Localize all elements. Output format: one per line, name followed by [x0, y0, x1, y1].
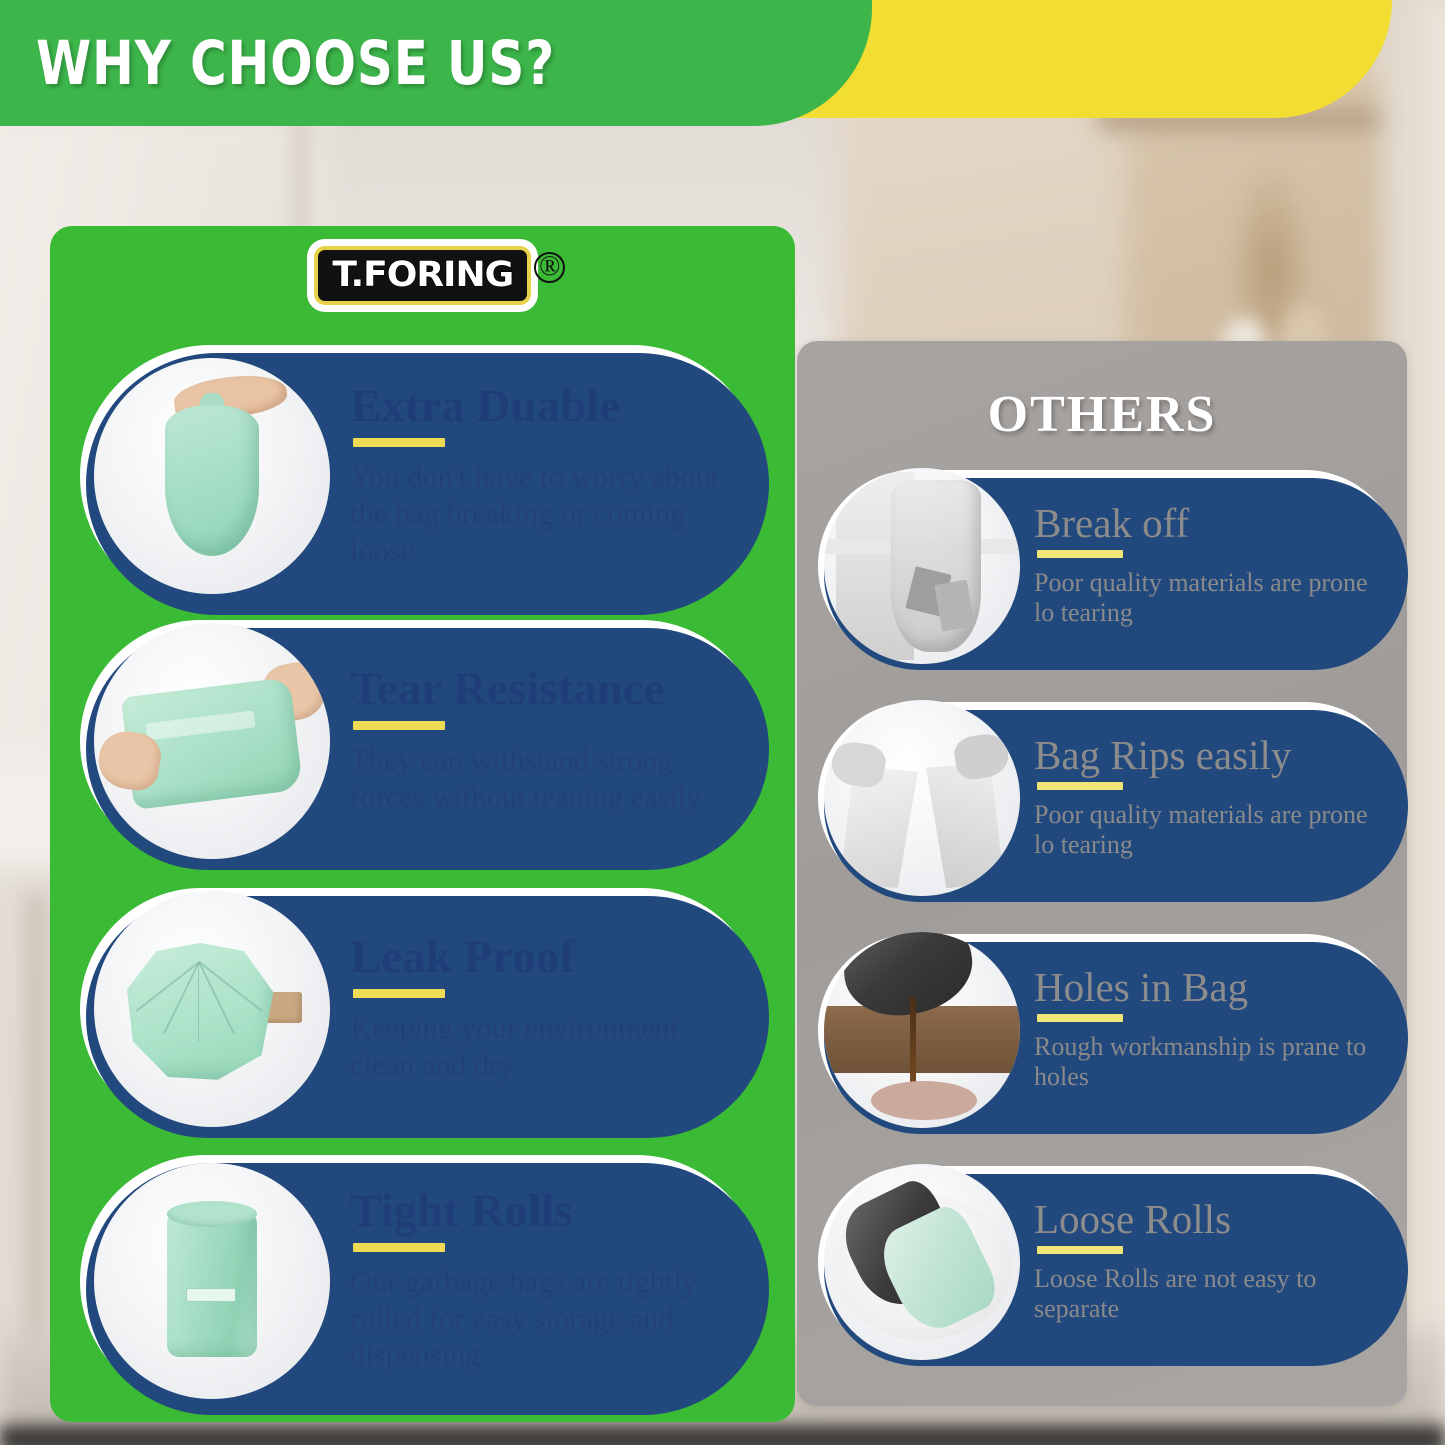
drawback-card[interactable]: Holes in Bag Rough workmanship is prane … — [818, 934, 1401, 1126]
others-heading: OTHERS — [797, 385, 1407, 444]
drawback-title: Loose Rolls — [1034, 1199, 1389, 1241]
drawback-image-holes-in-bag — [824, 932, 1020, 1128]
feature-description: They can withstand strong forces without… — [350, 742, 748, 815]
title-underline — [353, 721, 445, 730]
header-green-banner: WHY CHOOSE US? — [0, 0, 872, 126]
brand-logo: T.FORING ® — [50, 246, 795, 305]
feature-image-leak-proof — [94, 891, 330, 1127]
feature-image-extra-duable — [94, 358, 330, 594]
drawback-description: Poor quality materials are prone lo tear… — [1034, 568, 1389, 629]
feature-card[interactable]: Extra Duable You don't have to worry abo… — [80, 345, 762, 607]
drawback-image-break-off — [824, 468, 1020, 664]
title-underline — [1037, 782, 1123, 790]
registered-trademark-icon: ® — [534, 252, 565, 283]
feature-description: Our garbage bags are tightly rolled for … — [350, 1264, 748, 1374]
brand-logo-text: T.FORING — [332, 255, 513, 295]
drawback-description: Poor quality materials are prone lo tear… — [1034, 800, 1389, 861]
feature-card[interactable]: Leak Proof Keeping your environment clea… — [80, 888, 762, 1130]
feature-title: Tight Rolls — [350, 1188, 748, 1236]
drawback-title: Bag Rips easily — [1034, 735, 1389, 777]
title-underline — [353, 438, 445, 447]
drawback-image-bag-rips-easily — [824, 700, 1020, 896]
drawback-image-loose-rolls — [824, 1164, 1020, 1360]
drawback-title: Break off — [1034, 503, 1389, 545]
drawback-card[interactable]: Loose Rolls Loose Rolls are not easy to … — [818, 1166, 1401, 1358]
drawback-card[interactable]: Break off Poor quality materials are pro… — [818, 470, 1401, 662]
page-title: WHY CHOOSE US? — [36, 28, 555, 99]
drawback-title: Holes in Bag — [1034, 967, 1389, 1009]
feature-title: Tear Resistance — [350, 666, 748, 714]
title-underline — [1037, 1014, 1123, 1022]
feature-description: Keeping your environment clean and dry — [350, 1010, 748, 1083]
drawback-card[interactable]: Bag Rips easily Poor quality materials a… — [818, 702, 1401, 894]
feature-title: Extra Duable — [350, 383, 748, 431]
drawback-description: Rough workmanship is prane to holes — [1034, 1032, 1389, 1093]
feature-card[interactable]: Tear Resistance They can withstand stron… — [80, 620, 762, 862]
feature-description: You don't have to worry about the bag br… — [350, 459, 748, 569]
title-underline — [353, 1243, 445, 1252]
drawback-description: Loose Rolls are not easy to separate — [1034, 1264, 1389, 1325]
feature-title: Leak Proof — [350, 934, 748, 982]
title-underline — [1037, 550, 1123, 558]
feature-image-tear-resistance — [94, 623, 330, 859]
feature-card[interactable]: Tight Rolls Our garbage bags are tightly… — [80, 1155, 762, 1407]
title-underline — [353, 989, 445, 998]
feature-image-tight-rolls — [94, 1163, 330, 1399]
title-underline — [1037, 1246, 1123, 1254]
